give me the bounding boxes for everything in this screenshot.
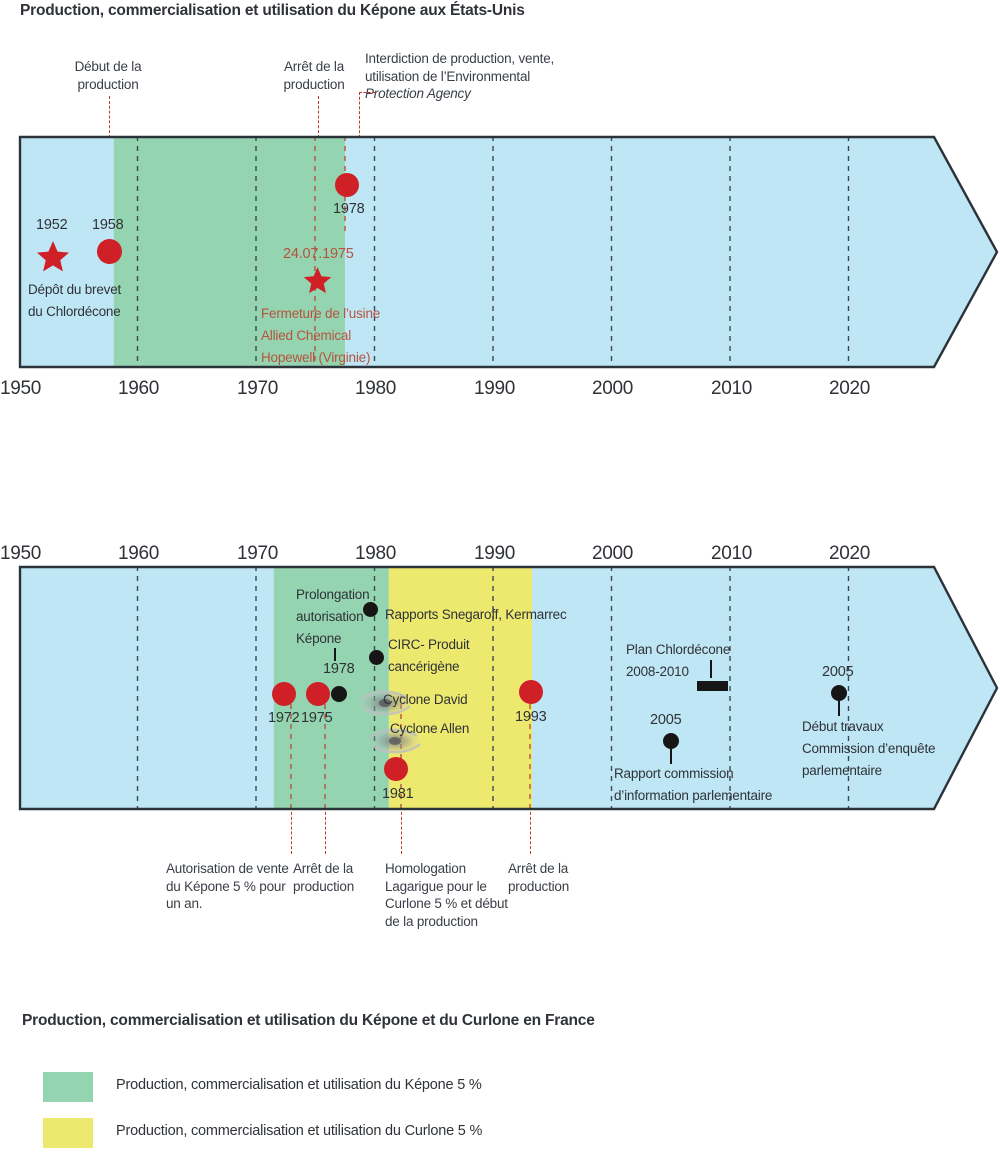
legend-label-kepone: Production, commercialisation et utilisa…: [116, 1077, 482, 1093]
year-1993-fr: 1993: [515, 709, 546, 725]
label-rapports-snegaroff: Rapports Snegaroff, Kermarrec: [385, 606, 567, 623]
page-title-top: Production, commercialisation et utilisa…: [20, 2, 525, 20]
label-plan-chlordecone-line2: 2008-2010: [626, 663, 689, 680]
label-circ-line2: cancérigène: [388, 658, 459, 675]
star-icon-1952: [36, 240, 70, 272]
axis-tick-2010-fr: 2010: [711, 543, 752, 565]
axis-tick-2000-us: 2000: [592, 378, 633, 400]
page-title-bottom: Production, commercialisation et utilisa…: [22, 1012, 595, 1030]
connector-debut-production: [109, 96, 110, 138]
leader-plan-chlordecone: [710, 660, 712, 678]
leader-2005-enquete: [838, 701, 840, 716]
label-prolongation-line1: Prolongation: [296, 586, 369, 603]
axis-tick-1950-fr: 1950: [0, 543, 41, 565]
axis-tick-2020-fr: 2020: [829, 543, 870, 565]
axis-tick-2010-us: 2010: [711, 378, 752, 400]
callout-autorisation-vente: Autorisation de vente du Képone 5 % pour…: [166, 860, 290, 913]
marker-circle-1978-us: [335, 173, 359, 197]
marker-circle-2005-enquete: [831, 685, 847, 701]
year-1975-fr: 1975: [301, 710, 332, 726]
label-commission-enquete-line1: Début travaux: [802, 718, 883, 735]
label-prolongation-line3: Képone: [296, 630, 341, 647]
connector-arret-production-us: [318, 96, 319, 138]
label-prolongation-line2: autorisation: [296, 608, 363, 625]
label-commission-enquete-line3: parlementaire: [802, 762, 882, 779]
marker-circ-cancerigene: [369, 650, 384, 665]
year-1958-us: 1958: [92, 217, 123, 233]
axis-tick-1970-us: 1970: [237, 378, 278, 400]
axis-tick-1980-us: 1980: [355, 378, 396, 400]
axis-tick-1980-fr: 1980: [355, 543, 396, 565]
star-icon-1975: [303, 266, 332, 294]
connector-autorisation-vente: [291, 812, 292, 854]
axis-tick-2020-us: 2020: [829, 378, 870, 400]
leader-prolongation: [334, 648, 336, 661]
callout-homologation-lagarigue: Homologation Lagarigue pour le Curlone 5…: [385, 860, 515, 930]
legend-swatch-kepone: [43, 1072, 93, 1102]
marker-circle-1981: [384, 757, 408, 781]
year-1978-fr: 1978: [323, 661, 354, 677]
label-rapport-commission-line1: Rapport commission: [614, 765, 733, 782]
marker-circle-2005-rapport: [663, 733, 679, 749]
year-1978-us: 1978: [333, 201, 364, 217]
marker-circle-1993: [519, 680, 543, 704]
connector-interdiction-epa: [359, 92, 360, 138]
label-circ-line1: CIRC- Produit: [388, 636, 469, 653]
year-1975-us: 24.07.1975: [283, 246, 354, 262]
label-commission-enquete-line2: Commission d’enquête: [802, 740, 935, 757]
year-1981-fr: 1981: [382, 786, 413, 802]
axis-tick-1990-fr: 1990: [474, 543, 515, 565]
connector-homologation-lagarigue: [401, 812, 402, 854]
label-plan-chlordecone-line1: Plan Chlordécone: [626, 641, 730, 658]
connector-epa-elbow: [359, 92, 375, 93]
axis-tick-1990-us: 1990: [474, 378, 515, 400]
axis-tick-2000-fr: 2000: [592, 543, 633, 565]
year-2005-enquete: 2005: [822, 664, 853, 680]
timeline-banner-us: [19, 136, 999, 368]
callout-arret-production-1993: Arrêt de la production: [508, 860, 596, 895]
marker-circle-1972: [272, 682, 296, 706]
marker-bar-plan-chlordecone: [697, 681, 728, 691]
connector-arret-production-1975: [325, 812, 326, 854]
callout-interdiction-epa: Interdiction de production, vente, utili…: [365, 50, 595, 103]
marker-circle-1958: [97, 239, 122, 264]
leader-2005-rapport: [670, 749, 672, 764]
label-brevet-line1: Dépôt du brevet: [28, 281, 121, 298]
band-yellow-fr: [389, 566, 532, 810]
year-2005-rapport: 2005: [650, 712, 681, 728]
connector-arret-production-1993: [530, 812, 531, 854]
marker-circle-1975-fr: [306, 682, 330, 706]
axis-tick-1960-fr: 1960: [118, 543, 159, 565]
label-brevet-line2: du Chlordécone: [28, 303, 121, 320]
label-fermeture-line3: Hopewell (Virginie): [261, 349, 370, 366]
axis-tick-1950-us: 1950: [0, 378, 41, 400]
axis-tick-1970-fr: 1970: [237, 543, 278, 565]
legend-label-curlone: Production, commercialisation et utilisa…: [116, 1123, 482, 1139]
banner-us-shape: [19, 136, 999, 368]
label-cyclone-david: Cyclone David: [383, 691, 467, 708]
marker-circle-1978-black: [331, 686, 347, 702]
legend-swatch-curlone: [43, 1118, 93, 1148]
marker-rapports-snegaroff: [363, 602, 378, 617]
year-1972-fr: 1972: [268, 710, 299, 726]
callout-debut-production: Début de la production: [70, 58, 146, 93]
callout-arret-production-1975: Arrêt de la production: [293, 860, 381, 895]
callout-arret-production-us: Arrêt de la production: [276, 58, 352, 93]
year-1952-us: 1952: [36, 217, 67, 233]
label-rapport-commission-line2: d’information parlementaire: [614, 787, 772, 804]
axis-tick-1960-us: 1960: [118, 378, 159, 400]
label-fermeture-line1: Fermeture de l’usine: [261, 305, 380, 322]
label-fermeture-line2: Allied Chemical: [261, 327, 351, 344]
label-cyclone-allen: Cyclone Allen: [390, 720, 469, 737]
